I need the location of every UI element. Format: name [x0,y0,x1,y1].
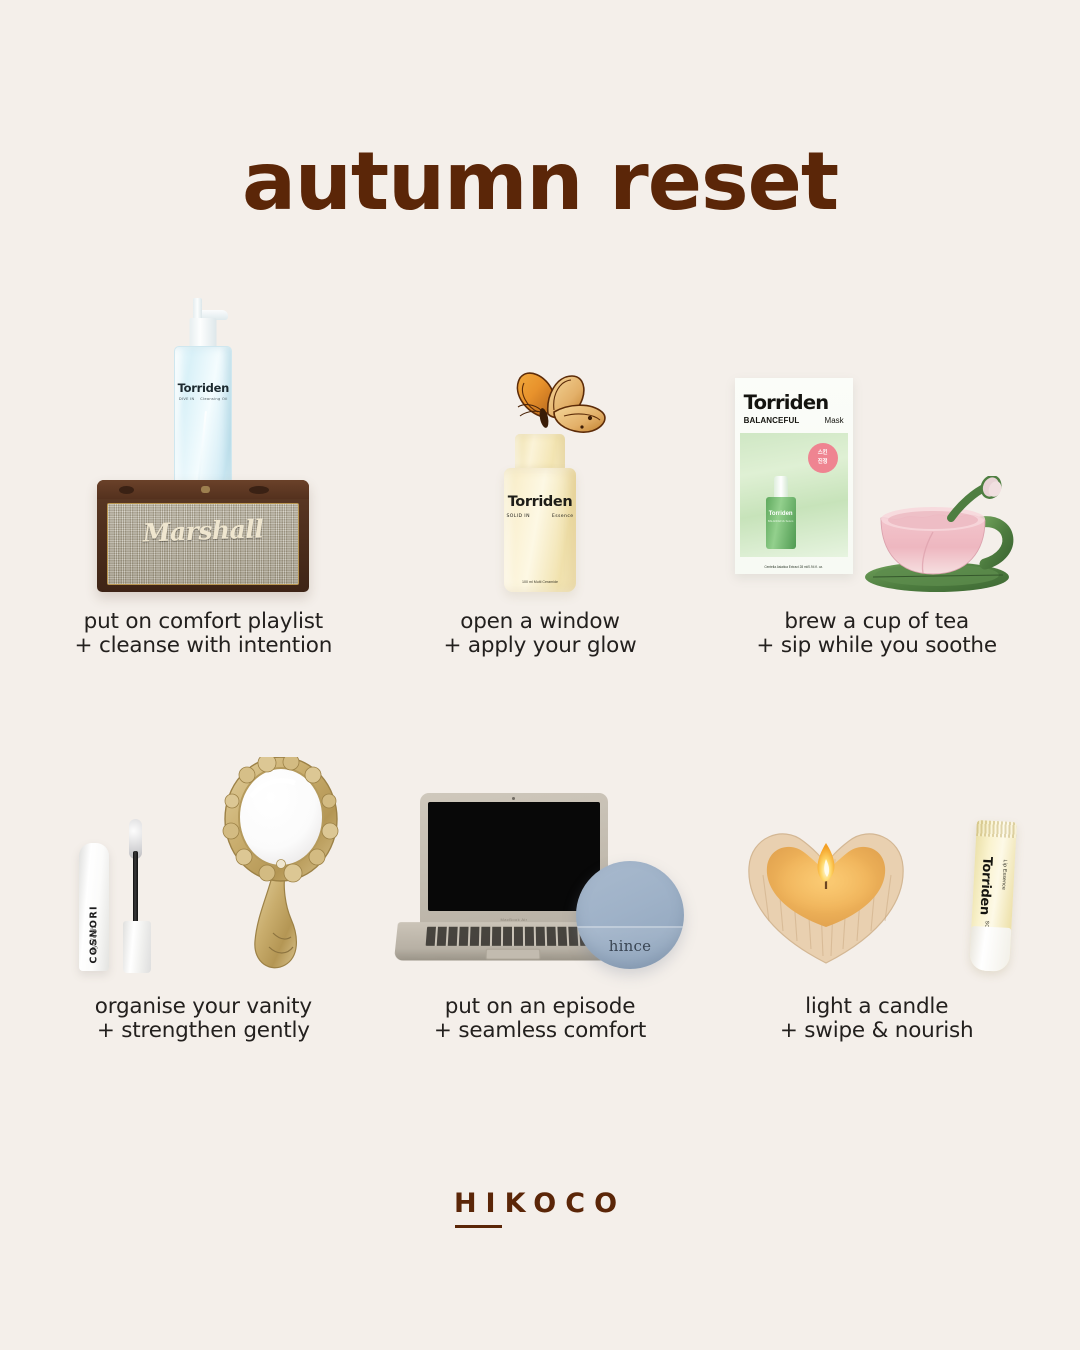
caption-line-2: + sip while you soothe [756,634,996,659]
logo-underline [455,1225,502,1228]
vintage-hand-mirror-icon [217,757,345,977]
mask-ingredient-text: Centella Asiatica Extract 28 ml/0.94 fl.… [735,565,853,570]
torriden-balanceful-mask-packet: Torriden BALANCEFUL Mask 스킨 진정 Torriden [735,378,853,574]
speaker-switch-icon [201,486,210,493]
essence-label: Torriden SOLID IN Essence [504,494,576,519]
essence-volume-text: 100 ml Multi Ceramide [504,580,576,584]
marshall-speaker: Marshall [97,480,309,592]
mask-subtitle-row: BALANCEFUL Mask [744,416,844,425]
caption-line-2: + strengthen gently [95,1019,312,1044]
essence-brand: Torriden [504,494,576,510]
mask-sub-right: Mask [825,416,844,425]
tip-caption: brew a cup of tea + sip while you soothe [756,610,996,659]
serum-subtitle: BALANCEFUL Serum [766,520,796,523]
bottle-sub-right: Cleansing Oil [200,397,228,401]
serum-brand: Torriden [766,511,796,517]
marshall-wordmark: Marshall [143,514,264,547]
webcam-icon [512,797,515,800]
flower-teacup-icon [855,476,1025,592]
poster-canvas: autumn reset Torriden DIVE IN Cleansing … [0,0,1080,1350]
mascara-cap [123,921,151,973]
artwork-laptop-and-cushion: MacBook Air hince [390,677,690,977]
tube-crimp [976,820,1017,838]
caption-line-1: light a candle [805,994,948,1019]
artwork-mask-and-teacup: Torriden BALANCEFUL Mask 스킨 진정 Torriden [727,292,1027,592]
hikoco-wordmark: HIKOCO [454,1188,626,1219]
speaker-port-icon [249,486,269,494]
caption-line-1: put on an episode [445,994,635,1019]
hince-cushion-compact: hince [576,861,684,969]
page-title: autumn reset [242,142,838,222]
tip-caption: open a window + apply your glow [443,610,636,659]
essence-subtitle: SOLID IN Essence [504,514,576,519]
footer: HIKOCO [0,1188,1080,1228]
serum-dropper-icon [774,476,788,498]
mask-brand: Torriden [744,391,853,414]
pump-stem-icon [193,298,202,320]
mask-packet-artwork: 스킨 진정 Torriden BALANCEFUL Serum [740,433,848,557]
speaker-knob-icon [119,486,134,494]
tube-cap [969,925,1011,971]
essence-cap [515,434,565,470]
tip-caption: organise your vanity + strengthen gently [95,995,312,1044]
bottle-sub-left: DIVE IN [179,397,195,401]
artwork-candle-and-lip-essence: Torriden Lip Essence SOLID IN [727,677,1027,977]
hince-brand: hince [576,937,684,955]
caption-line-2: + apply your glow [443,634,636,659]
serum-bottle-illustration: Torriden BALANCEFUL Serum [766,497,796,549]
lip-essence-sub-right: Lip Essence [1000,859,1008,890]
artwork-speaker-and-cleansing-oil: Torriden DIVE IN Cleansing Oil 200 ml/6.… [53,292,353,592]
heart-candle-icon [743,815,909,967]
mask-badge: 스킨 진정 [808,443,838,473]
mask-sub-left: BALANCEFUL [744,416,800,425]
tip-caption: put on comfort playlist + cleanse with i… [75,610,333,659]
tip-card-comfort-playlist[interactable]: Torriden DIVE IN Cleansing Oil 200 ml/6.… [35,274,372,659]
laptop-keyboard [426,926,599,945]
tip-card-brew-tea[interactable]: Torriden BALANCEFUL Mask 스킨 진정 Torriden [708,274,1045,659]
mask-badge-line-2: 진정 [818,458,828,466]
artwork-mascara-and-mirror: COSNORI eyelash [53,677,353,977]
torriden-lip-essence-tube: Torriden Lip Essence SOLID IN [969,820,1017,972]
pump-collar-icon [190,318,217,348]
cosnori-product-script: eyelash [90,926,98,953]
tips-grid: Torriden DIVE IN Cleansing Oil 200 ml/6.… [35,274,1045,1044]
laptop-trackpad [486,948,541,959]
caption-line-1: open a window [460,609,619,634]
mascara-wand [133,851,138,923]
tip-card-light-candle[interactable]: Torriden Lip Essence SOLID IN light a ca… [708,659,1045,1044]
essence-sub-left: SOLID IN [506,514,529,519]
tip-card-open-window[interactable]: Torriden SOLID IN Essence 100 ml Multi C… [372,274,709,659]
tip-caption: light a candle + swipe & nourish [780,995,974,1044]
artwork-essence-and-butterfly: Torriden SOLID IN Essence 100 ml Multi C… [390,292,690,592]
laptop-brand: MacBook Air [501,917,528,922]
torriden-essence-bottle: Torriden SOLID IN Essence 100 ml Multi C… [504,468,576,592]
caption-line-1: put on comfort playlist [84,609,323,634]
tip-caption: put on an episode + seamless comfort [434,995,646,1044]
caption-line-2: + swipe & nourish [780,1019,974,1044]
torriden-cleansing-oil-bottle: Torriden DIVE IN Cleansing Oil 200 ml/6.… [174,346,232,494]
bottle-subtitle: DIVE IN Cleansing Oil [175,397,231,401]
caption-line-2: + cleanse with intention [75,634,333,659]
tip-card-organise-vanity[interactable]: COSNORI eyelash organise your vanity + s… [35,659,372,1044]
caption-line-1: organise your vanity [95,994,312,1019]
bottle-label: Torriden DIVE IN Cleansing Oil [175,381,231,401]
laptop-display [428,802,600,911]
butterfly-icon [494,370,612,444]
caption-line-1: brew a cup of tea [784,609,969,634]
bottle-brand: Torriden [175,381,231,395]
tip-card-put-on-episode[interactable]: MacBook Air hince put on an episode + se… [372,659,709,1044]
caption-line-2: + seamless comfort [434,1019,646,1044]
essence-sub-right: Essence [552,514,574,519]
mask-badge-line-1: 스킨 [818,449,828,457]
hikoco-logo[interactable]: HIKOCO [454,1188,626,1228]
cosnori-lash-tube: COSNORI eyelash [79,843,109,971]
